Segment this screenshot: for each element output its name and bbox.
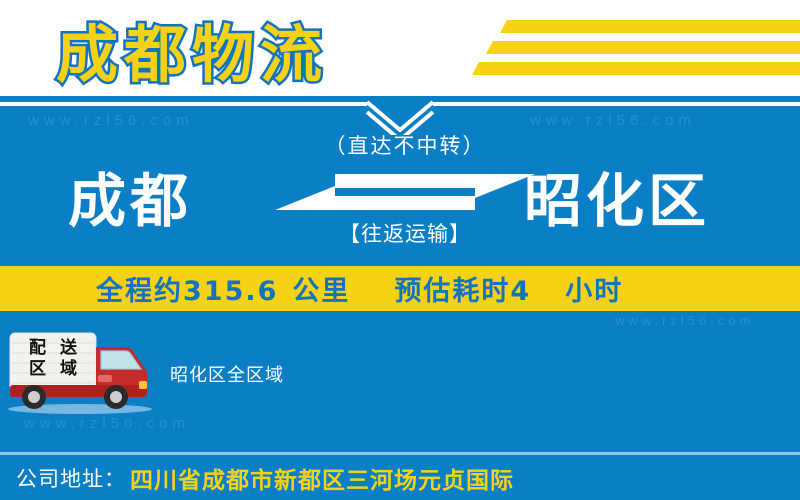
decorative-stripes [440, 0, 800, 96]
box-char-2: 送 [53, 338, 84, 359]
stripe-1 [500, 20, 800, 33]
divider-line-left [0, 102, 367, 106]
stats-bar: 全程约315.6 公里 预估耗时4 小时 [0, 266, 800, 311]
box-char-4: 域 [53, 359, 84, 380]
route-middle: （直达不中转） 【往返运输】 [270, 130, 540, 248]
duration-unit: 小时 [565, 269, 623, 308]
truck-box-label: 配 送 区 域 [22, 337, 84, 381]
distance-unit: 公里 [292, 269, 350, 308]
divider-line-right [433, 102, 800, 106]
delivery-area-text: 昭化区全区域 [170, 361, 284, 387]
stripe-3 [472, 62, 800, 75]
duration-value: 预估耗时4 [394, 269, 531, 308]
destination-city: 昭化区 [524, 154, 710, 238]
route-section: 成都 昭化区 （直达不中转） 【往返运输】 [0, 130, 800, 260]
box-char-3: 区 [22, 359, 53, 380]
bidirectional-arrow-icon [275, 170, 535, 214]
arrow-container [270, 170, 540, 214]
delivery-section: 配 送 区 域 昭化区全区域 [0, 325, 800, 420]
stripe-2 [486, 41, 800, 54]
distance-value: 全程约315.6 [96, 269, 278, 308]
footer-address-bar: 公司地址： 四川省成都市新都区三河场元贞国际 [0, 455, 800, 500]
logistics-poster: 成都物流 www.rzl56.com www.rzl56.com www.rzl… [0, 0, 800, 500]
box-char-1: 配 [22, 338, 53, 359]
page-title: 成都物流 [56, 4, 328, 94]
poster-header: 成都物流 [0, 0, 800, 96]
address-value: 四川省成都市新都区三河场元贞国际 [130, 461, 514, 495]
route-note-top: （直达不中转） [270, 130, 540, 160]
route-note-bottom: 【往返运输】 [270, 218, 540, 248]
address-label: 公司地址： [16, 463, 126, 493]
origin-city: 成都 [68, 154, 192, 238]
